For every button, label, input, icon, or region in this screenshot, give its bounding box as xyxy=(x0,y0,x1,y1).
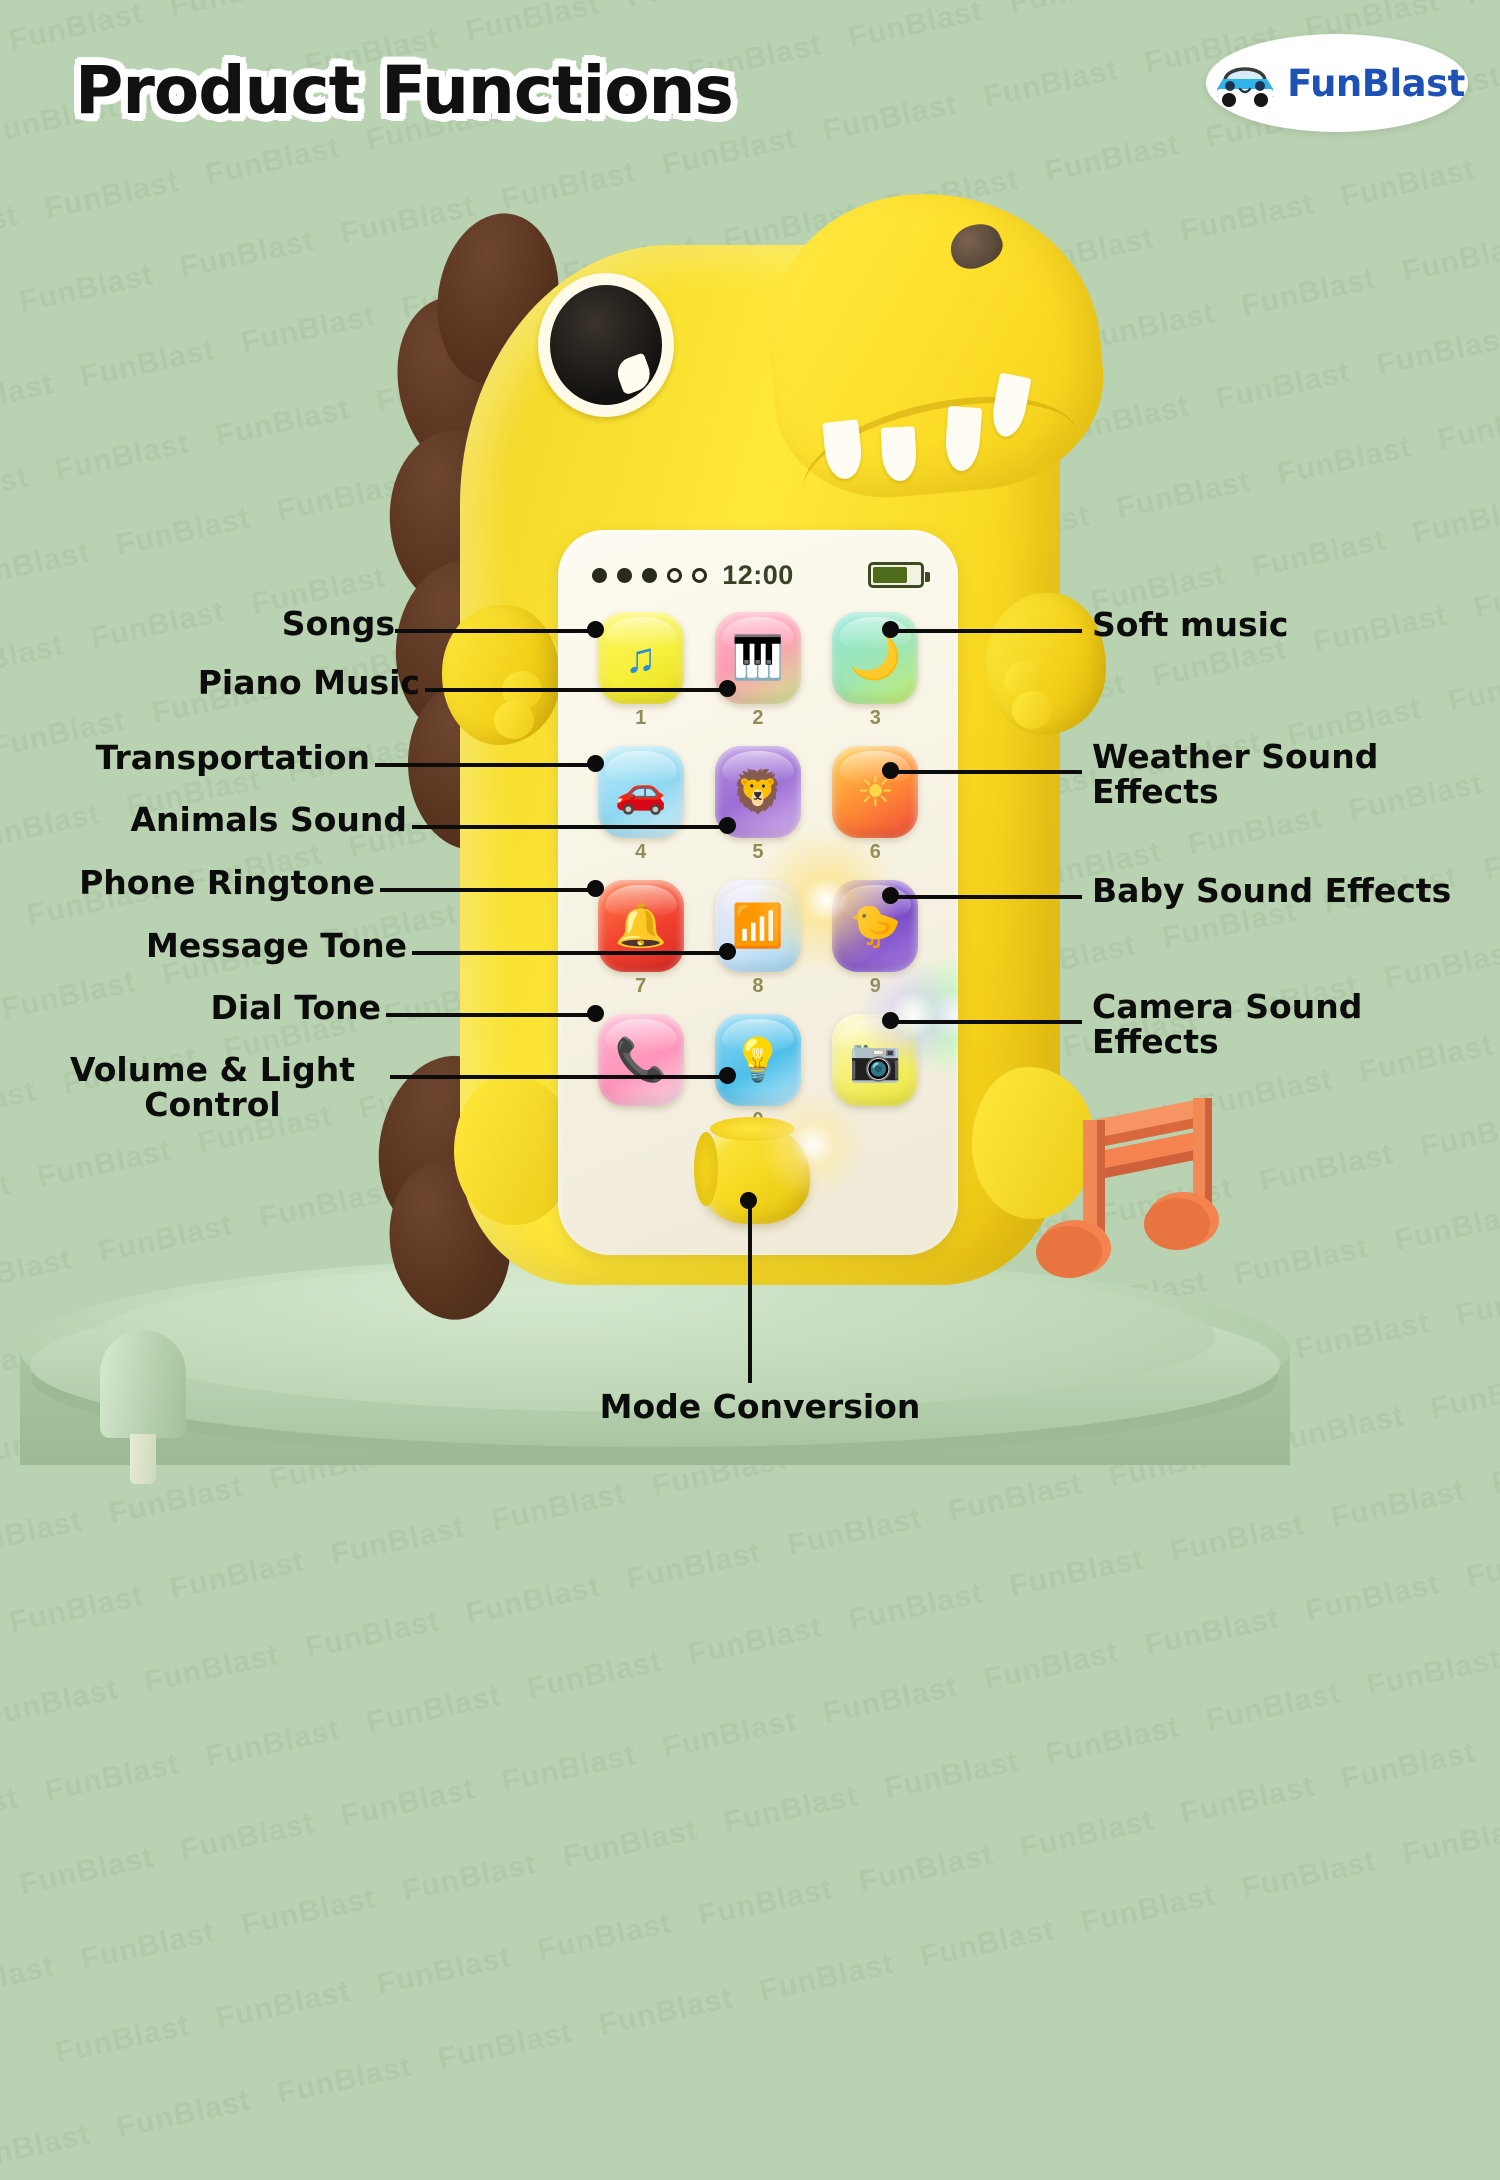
key-number: 1 xyxy=(635,707,646,730)
leader-transportation xyxy=(375,763,595,767)
camera-icon: 📷 xyxy=(849,1039,901,1081)
leader-animals-sound xyxy=(412,825,727,829)
keypad-cell: ☀6 xyxy=(820,746,930,864)
key-number: 5 xyxy=(752,841,763,864)
label-animals-sound: Animals Sound xyxy=(40,803,407,838)
leader-dot-volume-light-control xyxy=(719,1067,736,1084)
leader-message-tone xyxy=(412,951,727,955)
signal-dot-filled xyxy=(642,568,657,583)
leader-dot-piano-music xyxy=(719,680,736,697)
leader-dot-dial-tone xyxy=(587,1005,604,1022)
leader-volume-light-control xyxy=(390,1075,727,1079)
leader-dot-mode-conversion xyxy=(740,1192,757,1209)
signal-dot-empty xyxy=(692,568,707,583)
leader-dot-transportation xyxy=(587,755,604,772)
leader-dot-animals-sound xyxy=(719,817,736,834)
key-number: 9 xyxy=(870,975,881,998)
dino-claw xyxy=(1012,691,1052,729)
leader-dot-songs xyxy=(587,621,604,638)
dino-eye-pupil xyxy=(550,285,662,405)
pedestal-leg xyxy=(100,1330,186,1438)
watermark-row: FunBlast FunBlast FunBlast FunBlast FunB… xyxy=(0,1726,1500,2179)
car-icon xyxy=(1209,55,1281,111)
dino-foot-left xyxy=(454,1075,574,1225)
car-icon: 🚗 xyxy=(615,771,667,813)
music-note-prop xyxy=(1035,1080,1225,1290)
leader-camera-sound-effects xyxy=(890,1020,1082,1024)
lion-icon: 🦁 xyxy=(732,771,784,813)
label-soft-music: Soft music xyxy=(1092,608,1487,643)
key-number: 6 xyxy=(870,841,881,864)
label-songs: Songs xyxy=(60,607,395,642)
chick-icon: 🐤 xyxy=(849,905,901,947)
piano-icon: 🎹 xyxy=(732,637,784,679)
label-baby-sound-effects: Baby Sound Effects xyxy=(1092,874,1492,909)
label-dial-tone: Dial Tone xyxy=(40,991,381,1026)
mode-conversion-button[interactable] xyxy=(700,1126,810,1224)
key-number: 4 xyxy=(635,841,646,864)
leader-dot-baby-sound-effects xyxy=(882,887,899,904)
keypad-cell: 📷 xyxy=(820,1014,930,1132)
key-moon-icon[interactable]: 🌙 xyxy=(832,612,918,704)
music-notes-icon: ♫ xyxy=(625,637,657,679)
keypad-cell: 🦁5 xyxy=(703,746,813,864)
battery-icon xyxy=(868,562,924,588)
battery-fill xyxy=(873,567,907,583)
label-mode-conversion: Mode Conversion xyxy=(560,1390,960,1425)
key-number: 7 xyxy=(635,975,646,998)
label-piano-music: Piano Music xyxy=(60,666,420,701)
dino-eye xyxy=(538,273,674,417)
label-message-tone: Message Tone xyxy=(40,929,407,964)
key-lightbulb-icon[interactable]: 💡 xyxy=(715,1014,801,1106)
keypad-cell: 🔔7 xyxy=(586,880,696,998)
label-volume-light-control: Volume & Light Control xyxy=(40,1053,385,1123)
leader-baby-sound-effects xyxy=(890,895,1082,899)
dinosaur-toy-phone: 12:00 ♫1🎹2🌙3🚗4🦁5☀6🔔7📶8🐤9📞💡0📷 xyxy=(390,175,1110,1305)
key-chick-icon[interactable]: 🐤 xyxy=(832,880,918,972)
keypad-cell: 🎹2 xyxy=(703,612,813,730)
leader-dot-weather-sound-effects xyxy=(882,762,899,779)
leader-mode-conversion xyxy=(748,1198,752,1383)
dino-arm-right xyxy=(986,593,1106,735)
leader-dot-soft-music xyxy=(882,621,899,638)
leader-dial-tone xyxy=(386,1013,595,1017)
leader-dot-camera-sound-effects xyxy=(882,1012,899,1029)
dino-arm-left xyxy=(442,605,560,745)
key-phone-handset-icon[interactable]: 📞 xyxy=(598,1014,684,1106)
leader-dot-phone-ringtone xyxy=(587,880,604,897)
label-weather-sound-effects: Weather Sound Effects xyxy=(1092,740,1487,810)
status-bar: 12:00 xyxy=(558,558,958,592)
watermark-row: FunBlast FunBlast FunBlast FunBlast FunB… xyxy=(17,1474,1500,1902)
clock-time: 12:00 xyxy=(722,560,794,591)
leader-dot-message-tone xyxy=(719,943,736,960)
key-sun-icon[interactable]: ☀ xyxy=(832,746,918,838)
keypad-cell: 📞 xyxy=(586,1014,696,1132)
key-camera-icon[interactable]: 📷 xyxy=(832,1014,918,1106)
brand-name: FunBlast xyxy=(1287,62,1465,105)
label-camera-sound-effects: Camera Sound Effects xyxy=(1092,990,1487,1060)
lightbulb-icon: 💡 xyxy=(732,1039,784,1081)
signal-dot-filled xyxy=(617,568,632,583)
brand-logo: FunBlast xyxy=(1206,34,1468,132)
label-phone-ringtone: Phone Ringtone xyxy=(40,866,375,901)
message-waves-icon: 📶 xyxy=(732,905,784,947)
label-transportation: Transportation xyxy=(40,741,370,776)
key-bell-icon[interactable]: 🔔 xyxy=(598,880,684,972)
page-title: Product Functions xyxy=(75,52,733,129)
bell-icon: 🔔 xyxy=(615,905,667,947)
dino-claw xyxy=(494,701,534,739)
watermark-row: FunBlast FunBlast FunBlast FunBlast FunB… xyxy=(0,1558,1500,2011)
key-number: 8 xyxy=(752,975,763,998)
signal-dot-empty xyxy=(667,568,682,583)
leader-weather-sound-effects xyxy=(890,770,1082,774)
leader-songs xyxy=(395,629,595,633)
leader-phone-ringtone xyxy=(380,888,595,892)
leader-piano-music xyxy=(425,688,727,692)
key-number: 2 xyxy=(752,707,763,730)
leader-soft-music xyxy=(890,629,1082,633)
watermark-row: FunBlast FunBlast FunBlast FunBlast FunB… xyxy=(52,1642,1500,2070)
key-number: 3 xyxy=(870,707,881,730)
dino-eye-glint xyxy=(613,353,655,396)
signal-dot-filled xyxy=(592,568,607,583)
keypad-cell: 📶8 xyxy=(703,880,813,998)
moon-icon: 🌙 xyxy=(849,637,901,679)
signal-strength-icon xyxy=(592,568,707,583)
